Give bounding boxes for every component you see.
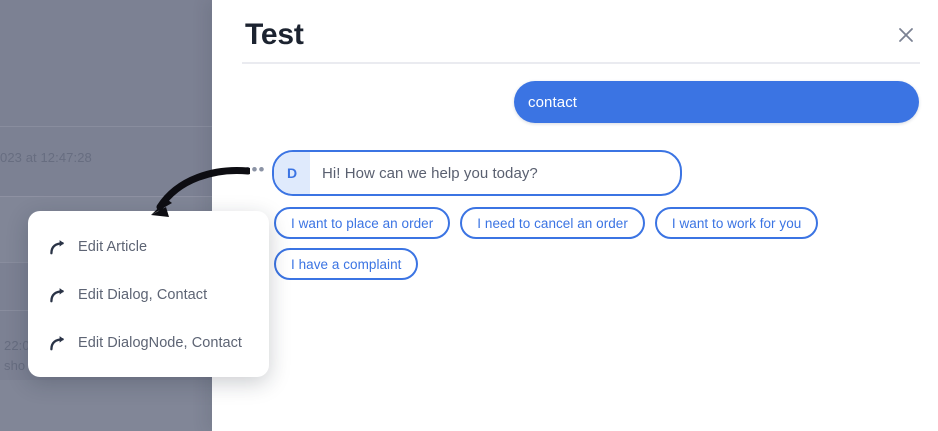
context-menu: Edit Article Edit Dialog, Contact Edit D… bbox=[28, 211, 269, 377]
test-dialog-panel: Test contact ••• D Hi! How can we help y… bbox=[212, 0, 938, 431]
backdrop-row-divider bbox=[0, 126, 212, 127]
suggestion-chip-work-for-you[interactable]: I want to work for you bbox=[655, 207, 818, 239]
suggestion-chip-cancel-order[interactable]: I need to cancel an order bbox=[460, 207, 645, 239]
page-title: Test bbox=[245, 18, 304, 52]
bot-message-bubble: D Hi! How can we help you today? bbox=[272, 150, 682, 196]
menu-item-label: Edit Dialog, Contact bbox=[78, 287, 207, 303]
suggestion-chip-complaint[interactable]: I have a complaint bbox=[274, 248, 418, 280]
panel-header: Test bbox=[212, 0, 938, 63]
suggestion-chip-place-order[interactable]: I want to place an order bbox=[274, 207, 450, 239]
close-icon bbox=[897, 26, 915, 44]
menu-item-edit-dialog-contact[interactable]: Edit Dialog, Contact bbox=[28, 277, 269, 313]
arrow-redirect-icon bbox=[48, 335, 70, 351]
user-message-text: contact bbox=[514, 94, 577, 111]
backdrop-row-highlight bbox=[0, 380, 212, 431]
menu-item-edit-article[interactable]: Edit Article bbox=[28, 229, 269, 265]
menu-item-label: Edit DialogNode, Contact bbox=[78, 335, 242, 351]
backdrop-word-fragment: sho bbox=[4, 358, 25, 373]
backdrop-time-fragment: 22:0 bbox=[4, 338, 30, 353]
backdrop-timestamp-text: 023 at 12:47:28 bbox=[0, 150, 92, 165]
avatar: D bbox=[274, 152, 310, 194]
menu-item-edit-dialognode-contact[interactable]: Edit DialogNode, Contact bbox=[28, 325, 269, 361]
message-options-icon[interactable]: ••• bbox=[244, 159, 266, 188]
bot-message-row: ••• D Hi! How can we help you today? bbox=[244, 150, 682, 196]
bot-message-text: Hi! How can we help you today? bbox=[310, 152, 680, 194]
close-button[interactable] bbox=[893, 22, 919, 48]
arrow-redirect-icon bbox=[48, 287, 70, 303]
user-message-bubble: contact bbox=[514, 81, 919, 123]
chat-transcript: contact ••• D Hi! How can we help you to… bbox=[212, 63, 938, 431]
suggestion-chips: I want to place an order I need to cance… bbox=[274, 207, 894, 280]
arrow-redirect-icon bbox=[48, 239, 70, 255]
menu-item-label: Edit Article bbox=[78, 239, 147, 255]
